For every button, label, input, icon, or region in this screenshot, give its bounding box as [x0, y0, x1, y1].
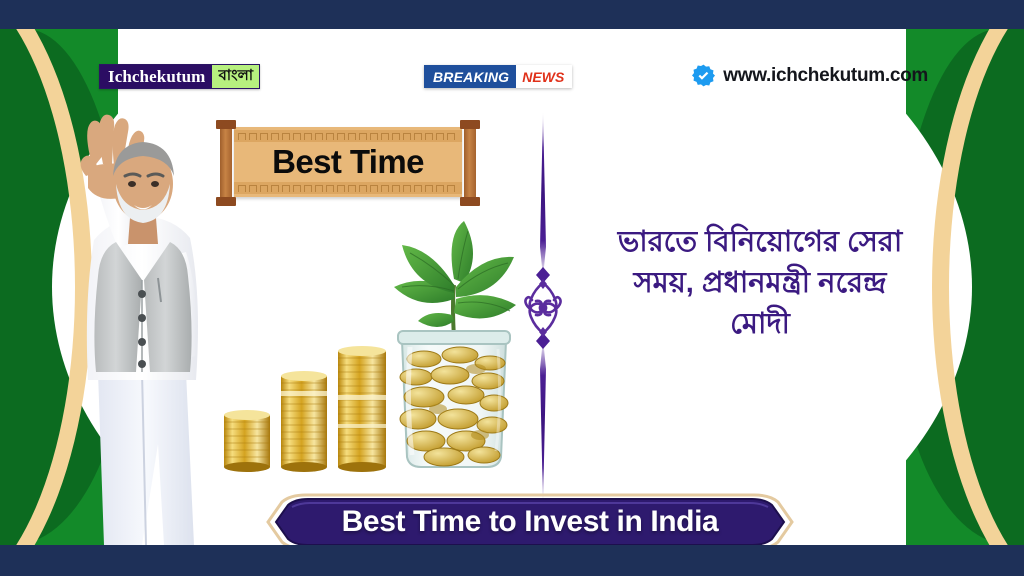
sign-right-post: [460, 120, 480, 206]
header-bar: Ichchekutum বাংলা BREAKING NEWS www.ichc…: [0, 32, 1024, 82]
site-logo[interactable]: Ichchekutum বাংলা: [99, 64, 260, 89]
breaking-label: BREAKING: [424, 65, 516, 88]
logo-language: বাংলা: [212, 65, 259, 88]
gold-coin-stacks: [216, 329, 396, 474]
content-card: Best Time: [0, 29, 1024, 545]
verified-badge-icon: [692, 64, 715, 87]
bottom-navy-bar: [0, 545, 1024, 576]
headline-line-3: মোদী: [560, 304, 960, 345]
headline-line-2: সময়, প্রধানমন্ত্রী নরেন্দ্র: [560, 263, 960, 304]
bottom-ribbon: Best Time to Invest in India: [266, 493, 794, 545]
coin-jar-with-plant: [380, 219, 528, 471]
narendra-modi-photo: [46, 72, 236, 545]
headline-bengali: ভারতে বিনিয়োগের সেরা সময়, প্রধানমন্ত্র…: [560, 222, 960, 346]
sign-left-post: [216, 120, 236, 206]
breaking-news-badge: BREAKING NEWS: [424, 65, 572, 88]
logo-name: Ichchekutum: [100, 65, 212, 88]
top-navy-bar: [0, 0, 1024, 29]
ribbon-title: Best Time to Invest in India: [266, 493, 794, 545]
vertical-filigree-divider-icon: [523, 107, 563, 509]
headline-line-1: ভারতে বিনিয়োগের সেরা: [560, 222, 960, 263]
news-label: NEWS: [516, 65, 572, 88]
site-url-text: www.ichchekutum.com: [723, 65, 928, 87]
best-time-signboard: Best Time: [216, 120, 480, 206]
sign-board-panel: Best Time: [234, 127, 462, 197]
sign-title: Best Time: [234, 127, 462, 197]
infographic-canvas: Best Time: [0, 0, 1024, 576]
site-url-group[interactable]: www.ichchekutum.com: [692, 64, 928, 87]
